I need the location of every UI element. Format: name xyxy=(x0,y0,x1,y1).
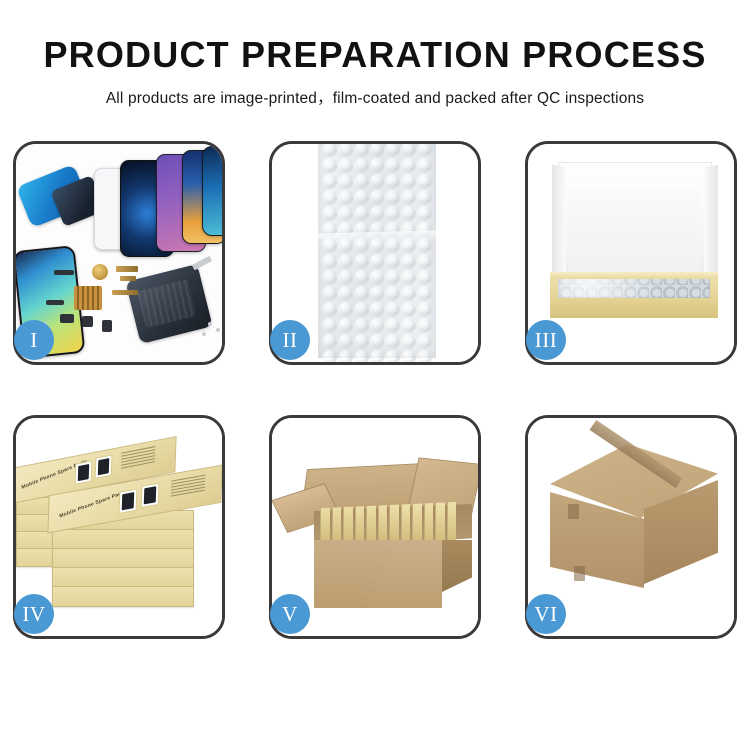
box-print-window-3 xyxy=(119,489,138,514)
phone-back-housing xyxy=(125,264,212,344)
stack-box-front-3 xyxy=(52,548,194,569)
process-step-panel-2[interactable]: II xyxy=(269,141,481,365)
carton-front-panel xyxy=(314,540,442,608)
step-badge-5: V xyxy=(270,594,310,634)
box-print-window-2 xyxy=(95,454,113,478)
stack-box-front-4 xyxy=(52,567,194,588)
part-antenna-strip xyxy=(46,300,64,305)
sealed-carton-tab-bottom xyxy=(574,566,585,581)
process-panel-grid: I xyxy=(13,141,737,681)
bubble-grid xyxy=(322,144,432,356)
box-lid-inner-face xyxy=(568,188,700,274)
part-connector-grid xyxy=(74,286,102,310)
step-badge-4: IV xyxy=(14,594,54,634)
part-screw-2 xyxy=(216,328,220,332)
stack-box-front-2 xyxy=(52,529,194,550)
process-step-panel-6[interactable]: VI xyxy=(525,415,737,639)
page-header: PRODUCT PREPARATION PROCESS All products… xyxy=(0,0,750,108)
part-speaker-mesh xyxy=(54,270,74,275)
process-step-panel-3[interactable]: III xyxy=(525,141,737,365)
step-badge-3: III xyxy=(526,320,566,360)
box-print-spec-lines-front xyxy=(171,475,206,501)
process-step-panel-1[interactable]: I xyxy=(13,141,225,365)
bubble-wrap-strip xyxy=(318,144,436,358)
box-tray-lip xyxy=(550,272,718,279)
part-screw-1 xyxy=(208,322,212,326)
part-taptic-coil xyxy=(92,264,108,280)
part-flex-cable-3 xyxy=(112,290,138,295)
part-flex-cable-2 xyxy=(120,276,136,281)
part-camera-module xyxy=(60,314,74,323)
part-screw-3 xyxy=(202,332,206,336)
part-button-cap xyxy=(102,320,112,332)
part-tweezers xyxy=(192,256,212,271)
part-flex-cable-1 xyxy=(116,266,138,272)
box-print-window-1 xyxy=(75,460,93,484)
page-subtitle: All products are image-printed，film-coat… xyxy=(0,86,750,108)
stack-box-front-5 xyxy=(52,586,194,607)
teal-curved-screen xyxy=(202,146,222,236)
box-print-label-front: Mobile Phone Spare Parts xyxy=(59,490,126,520)
box-lid-flap-left xyxy=(552,165,566,275)
process-step-panel-4[interactable]: Mobile Phone Spare Parts Mobile Phone Sp… xyxy=(13,415,225,639)
step-badge-2: II xyxy=(270,320,310,360)
sealed-carton-tab-top xyxy=(568,504,579,519)
part-vibrator xyxy=(82,316,93,327)
carton-side-panel xyxy=(442,540,472,592)
page-title: PRODUCT PREPARATION PROCESS xyxy=(0,36,750,74)
step-badge-1: I xyxy=(14,320,54,360)
step-badge-6: VI xyxy=(526,594,566,634)
box-lid-flap-right xyxy=(704,165,718,275)
box-print-window-4 xyxy=(141,483,160,508)
process-step-panel-5[interactable]: V xyxy=(269,415,481,639)
box-print-spec-lines-back xyxy=(121,446,156,473)
